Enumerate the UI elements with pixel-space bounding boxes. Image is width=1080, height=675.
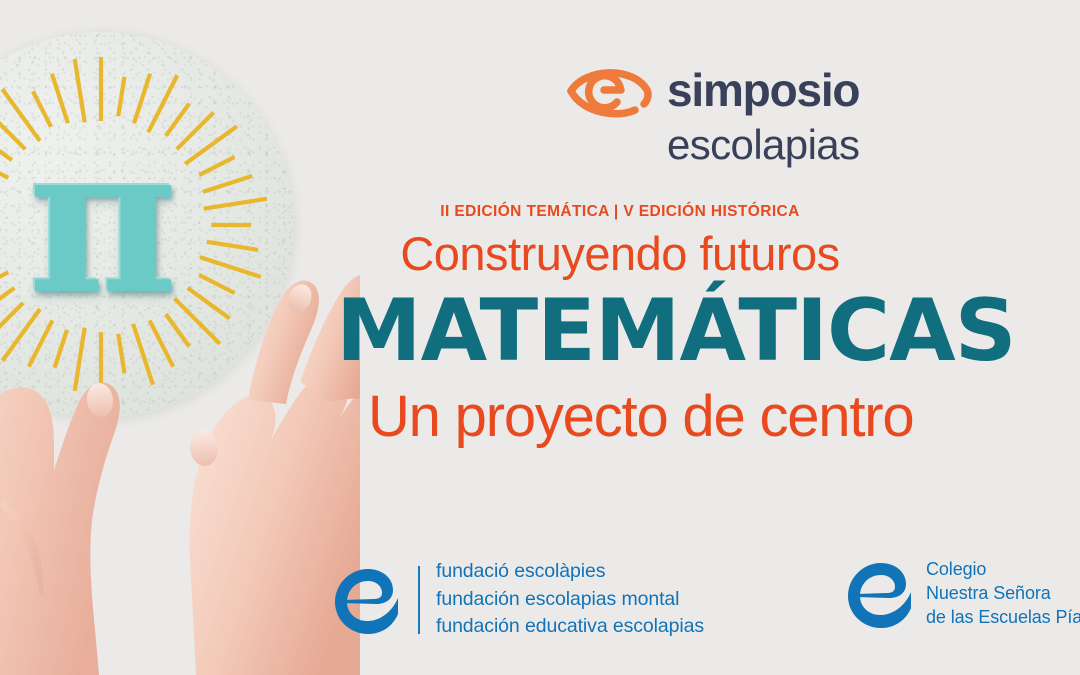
colegio-logo: Colegio Nuestra Señora de las Escuelas P… [843, 558, 1080, 630]
fundacio-lines: fundació escolàpies fundación escolapias… [436, 558, 704, 641]
brand-word-simposio: simposio [667, 68, 859, 113]
escolapias-e-mark-icon [843, 558, 915, 630]
left-hand [0, 381, 120, 675]
hero-image: π [0, 0, 360, 675]
hands-illustration [0, 0, 360, 675]
sub-headline: Un proyecto de centro [368, 385, 1080, 449]
simposio-escolapias-logo: simposio escolapias [565, 60, 905, 155]
divider [418, 566, 420, 634]
brand-word-escolapias: escolapias [667, 124, 905, 166]
fundacio-line-2: fundación escolapias montal [436, 586, 704, 614]
colegio-line-1: Colegio [926, 558, 1080, 582]
colegio-line-2: Nuestra Señora [926, 582, 1080, 606]
main-headline: MATEMÁTICAS [336, 288, 1080, 374]
escolapies-e-mark-icon [330, 564, 402, 636]
poster-canvas: π [0, 0, 1080, 675]
colegio-lines: Colegio Nuestra Señora de las Escuelas P… [926, 558, 1080, 630]
fundacio-line-3: fundación educativa escolapias [436, 613, 704, 641]
tagline: Construyendo futuros [0, 229, 1080, 278]
edition-line: II EDICIÓN TEMÁTICA | V EDICIÓN HISTÓRIC… [0, 203, 1080, 221]
fundacio-line-1: fundació escolàpies [436, 558, 704, 586]
colegio-line-3: de las Escuelas Pías [926, 606, 1080, 630]
eye-with-e-icon [565, 60, 653, 122]
fundacio-escolapies-logo: fundació escolàpies fundación escolapias… [330, 558, 704, 641]
